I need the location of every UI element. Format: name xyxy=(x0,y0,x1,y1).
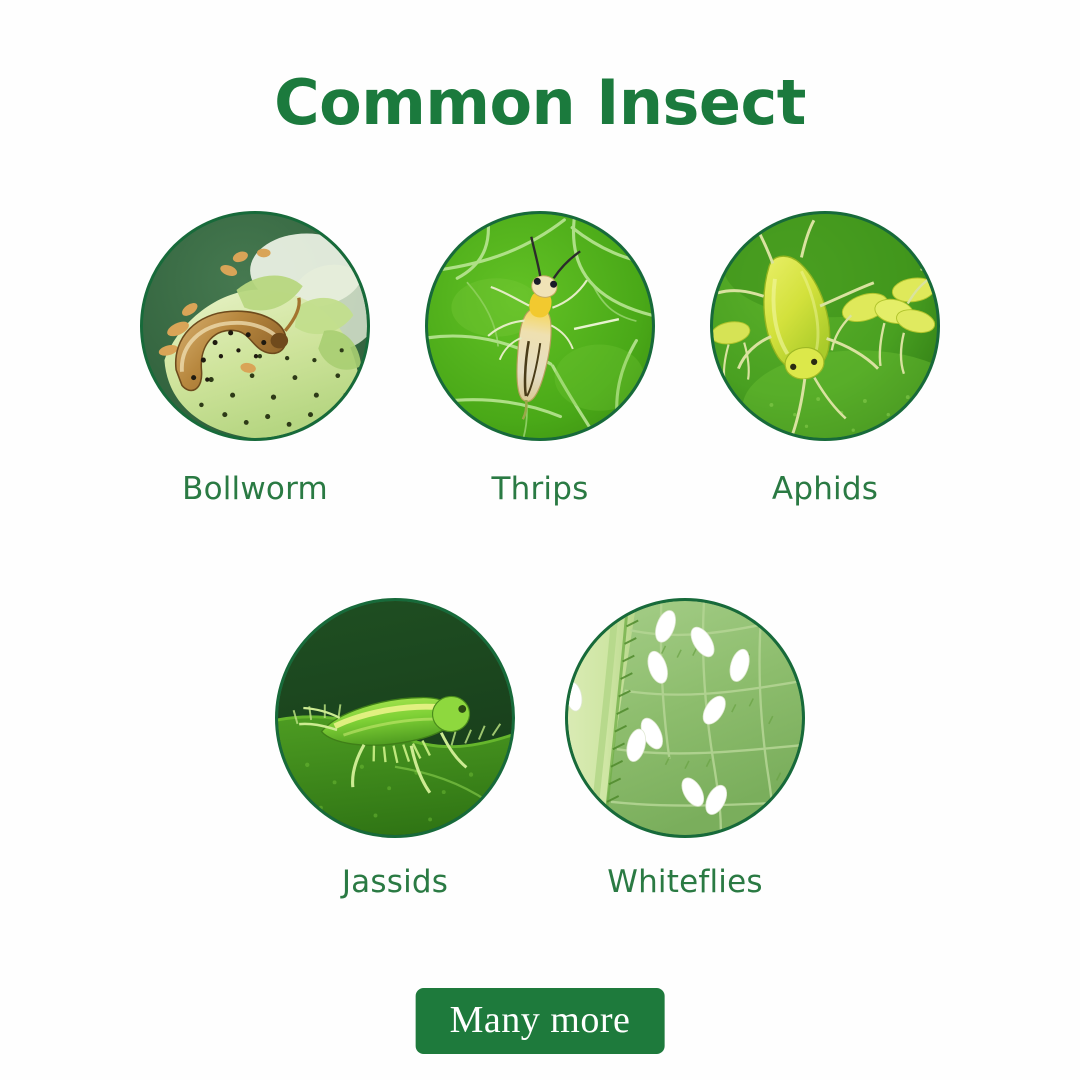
insect-card-jassids[interactable]: Jassids xyxy=(275,598,515,900)
insect-row-1: Bollworm xyxy=(0,211,1080,507)
insect-label: Thrips xyxy=(492,471,589,507)
insect-label: Jassids xyxy=(342,864,448,900)
insect-label: Aphids xyxy=(772,471,878,507)
jassids-photo xyxy=(275,598,515,838)
insect-card-aphids[interactable]: Aphids xyxy=(710,211,940,507)
whiteflies-photo xyxy=(565,598,805,838)
page-title: Common Insect xyxy=(0,66,1080,139)
insect-row-2: Jassids xyxy=(0,598,1080,900)
poster-canvas: Common Insect xyxy=(0,0,1080,1080)
insect-label: Whiteflies xyxy=(607,864,763,900)
insect-label: Bollworm xyxy=(182,471,328,507)
many-more-button[interactable]: Many more xyxy=(416,988,665,1054)
thrips-photo xyxy=(425,211,655,441)
insect-card-bollworm[interactable]: Bollworm xyxy=(140,211,370,507)
insect-card-thrips[interactable]: Thrips xyxy=(425,211,655,507)
bollworm-photo xyxy=(140,211,370,441)
aphids-photo xyxy=(710,211,940,441)
insect-card-whiteflies[interactable]: Whiteflies xyxy=(565,598,805,900)
